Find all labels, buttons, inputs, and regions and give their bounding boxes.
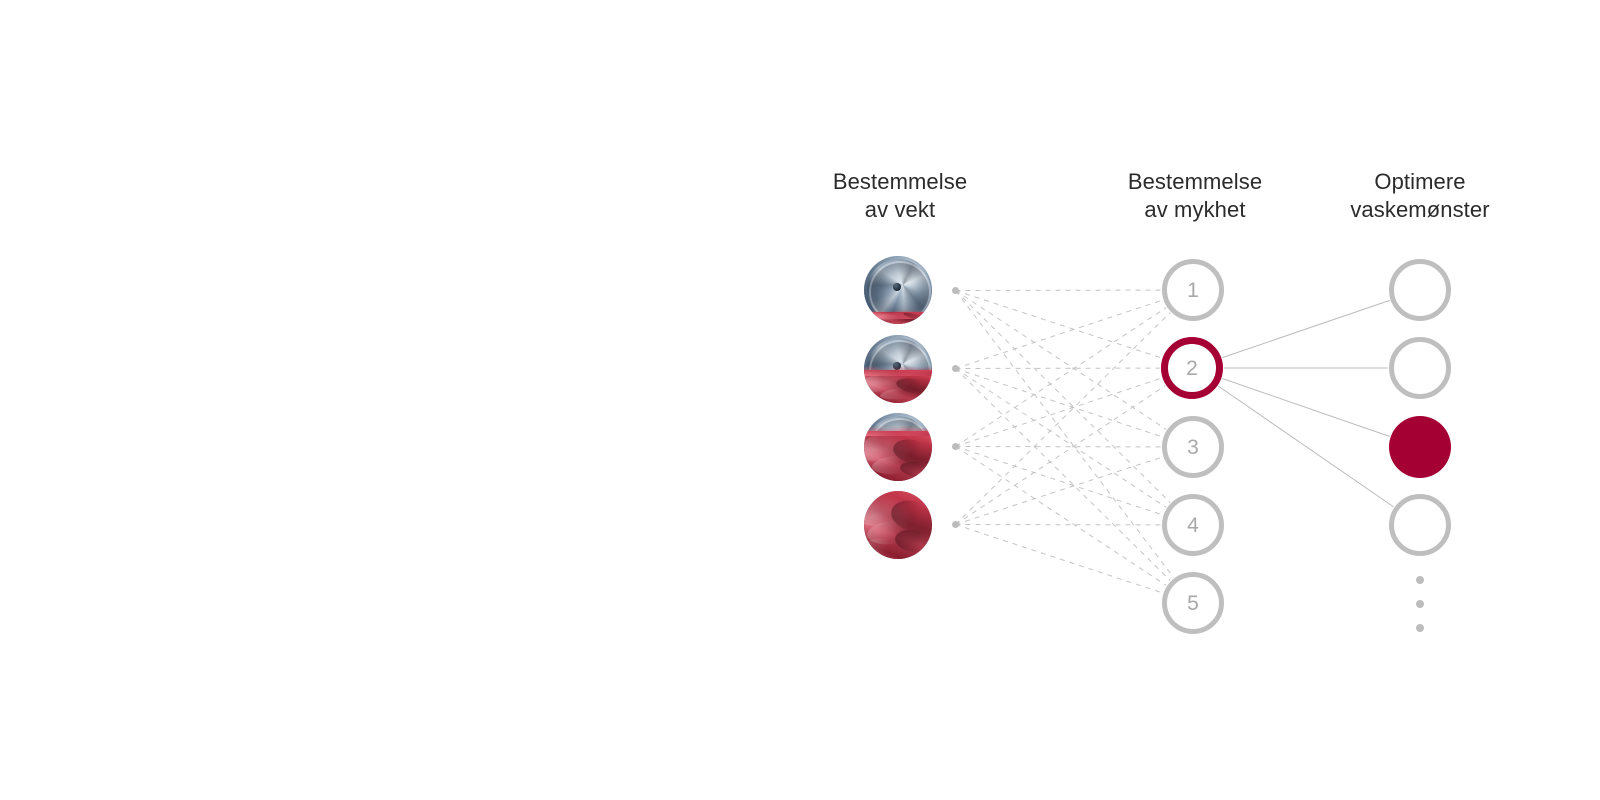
- pattern-more-ellipsis: [1416, 576, 1424, 632]
- laundry-fill: [864, 491, 932, 559]
- column-title-softness-line1: Bestemmelse: [1075, 168, 1315, 196]
- input-node-load-3[interactable]: [864, 413, 932, 481]
- softness-node-2-label: 2: [1186, 358, 1198, 379]
- softness-node-1-label: 1: [1187, 280, 1199, 301]
- input-node-load-1[interactable]: [864, 256, 932, 324]
- softness-node-3-label: 3: [1187, 437, 1199, 458]
- connector-nub-load-1: [952, 287, 959, 294]
- column-title-pattern: Optimere vaskemønster: [1300, 168, 1540, 224]
- pattern-node-4[interactable]: [1389, 494, 1451, 556]
- ellipsis-dot: [1416, 624, 1424, 632]
- edges-softness-to-pattern: [1218, 300, 1393, 506]
- input-node-load-2[interactable]: [864, 335, 932, 403]
- column-title-weight: Bestemmelse av vekt: [780, 168, 1020, 224]
- ellipsis-dot: [1416, 600, 1424, 608]
- softness-node-5-label: 5: [1187, 593, 1199, 614]
- column-title-weight-line1: Bestemmelse: [780, 168, 1020, 196]
- input-node-load-4[interactable]: [864, 491, 932, 559]
- softness-node-5[interactable]: 5: [1162, 572, 1224, 634]
- connector-nub-load-2: [952, 365, 959, 372]
- laundry-fill: [864, 431, 932, 481]
- edges-weight-to-softness: [956, 290, 1174, 593]
- column-title-softness: Bestemmelse av mykhet: [1075, 168, 1315, 224]
- drum-photo: [864, 335, 932, 403]
- connector-nub-load-4: [952, 521, 959, 528]
- laundry-fill: [864, 312, 932, 324]
- pattern-node-2[interactable]: [1389, 337, 1451, 399]
- softness-node-4-label: 4: [1187, 515, 1199, 536]
- connector-nub-load-3: [952, 443, 959, 450]
- laundry-fill: [864, 370, 932, 403]
- pattern-node-3-selected[interactable]: [1389, 416, 1451, 478]
- edge-layer: [0, 0, 1600, 800]
- column-title-pattern-line2: vaskemønster: [1300, 196, 1540, 224]
- column-title-softness-line2: av mykhet: [1075, 196, 1315, 224]
- softness-node-1[interactable]: 1: [1162, 259, 1224, 321]
- drum-photo: [864, 413, 932, 481]
- column-title-weight-line2: av vekt: [780, 196, 1020, 224]
- softness-node-4[interactable]: 4: [1162, 494, 1224, 556]
- drum-photo: [864, 491, 932, 559]
- pattern-node-1[interactable]: [1389, 259, 1451, 321]
- softness-node-3[interactable]: 3: [1162, 416, 1224, 478]
- softness-node-2[interactable]: 2: [1161, 337, 1223, 399]
- column-title-pattern-line1: Optimere: [1300, 168, 1540, 196]
- ellipsis-dot: [1416, 576, 1424, 584]
- diagram-canvas: Bestemmelse av vekt Bestemmelse av mykhe…: [0, 0, 1600, 800]
- drum-photo: [864, 256, 932, 324]
